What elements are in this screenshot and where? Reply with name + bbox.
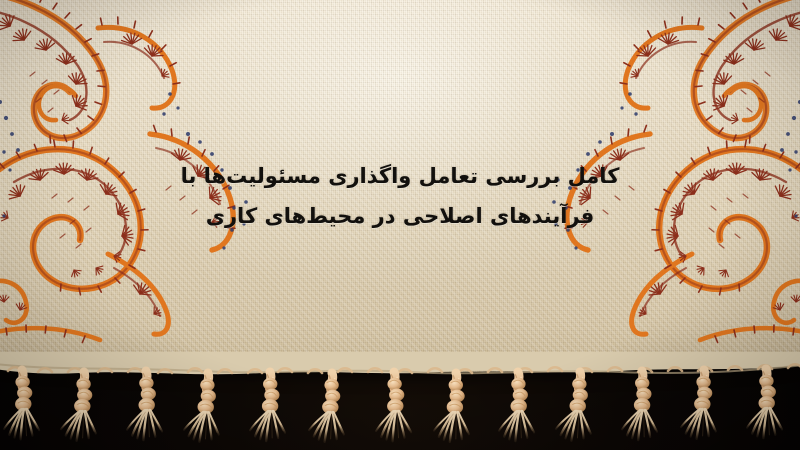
title-line-2: فرآیندهای اصلاحی در محیط‌های کاری [0, 196, 800, 236]
embroidered-cloth: کامل بررسی تعامل واگذاری مسئولیت‌ها با ف… [0, 0, 800, 372]
title-line-1: کامل بررسی تعامل واگذاری مسئولیت‌ها با [0, 156, 800, 196]
banner-image: کامل بررسی تعامل واگذاری مسئولیت‌ها با ف… [0, 0, 800, 450]
banner-title: کامل بررسی تعامل واگذاری مسئولیت‌ها با ف… [0, 156, 800, 236]
